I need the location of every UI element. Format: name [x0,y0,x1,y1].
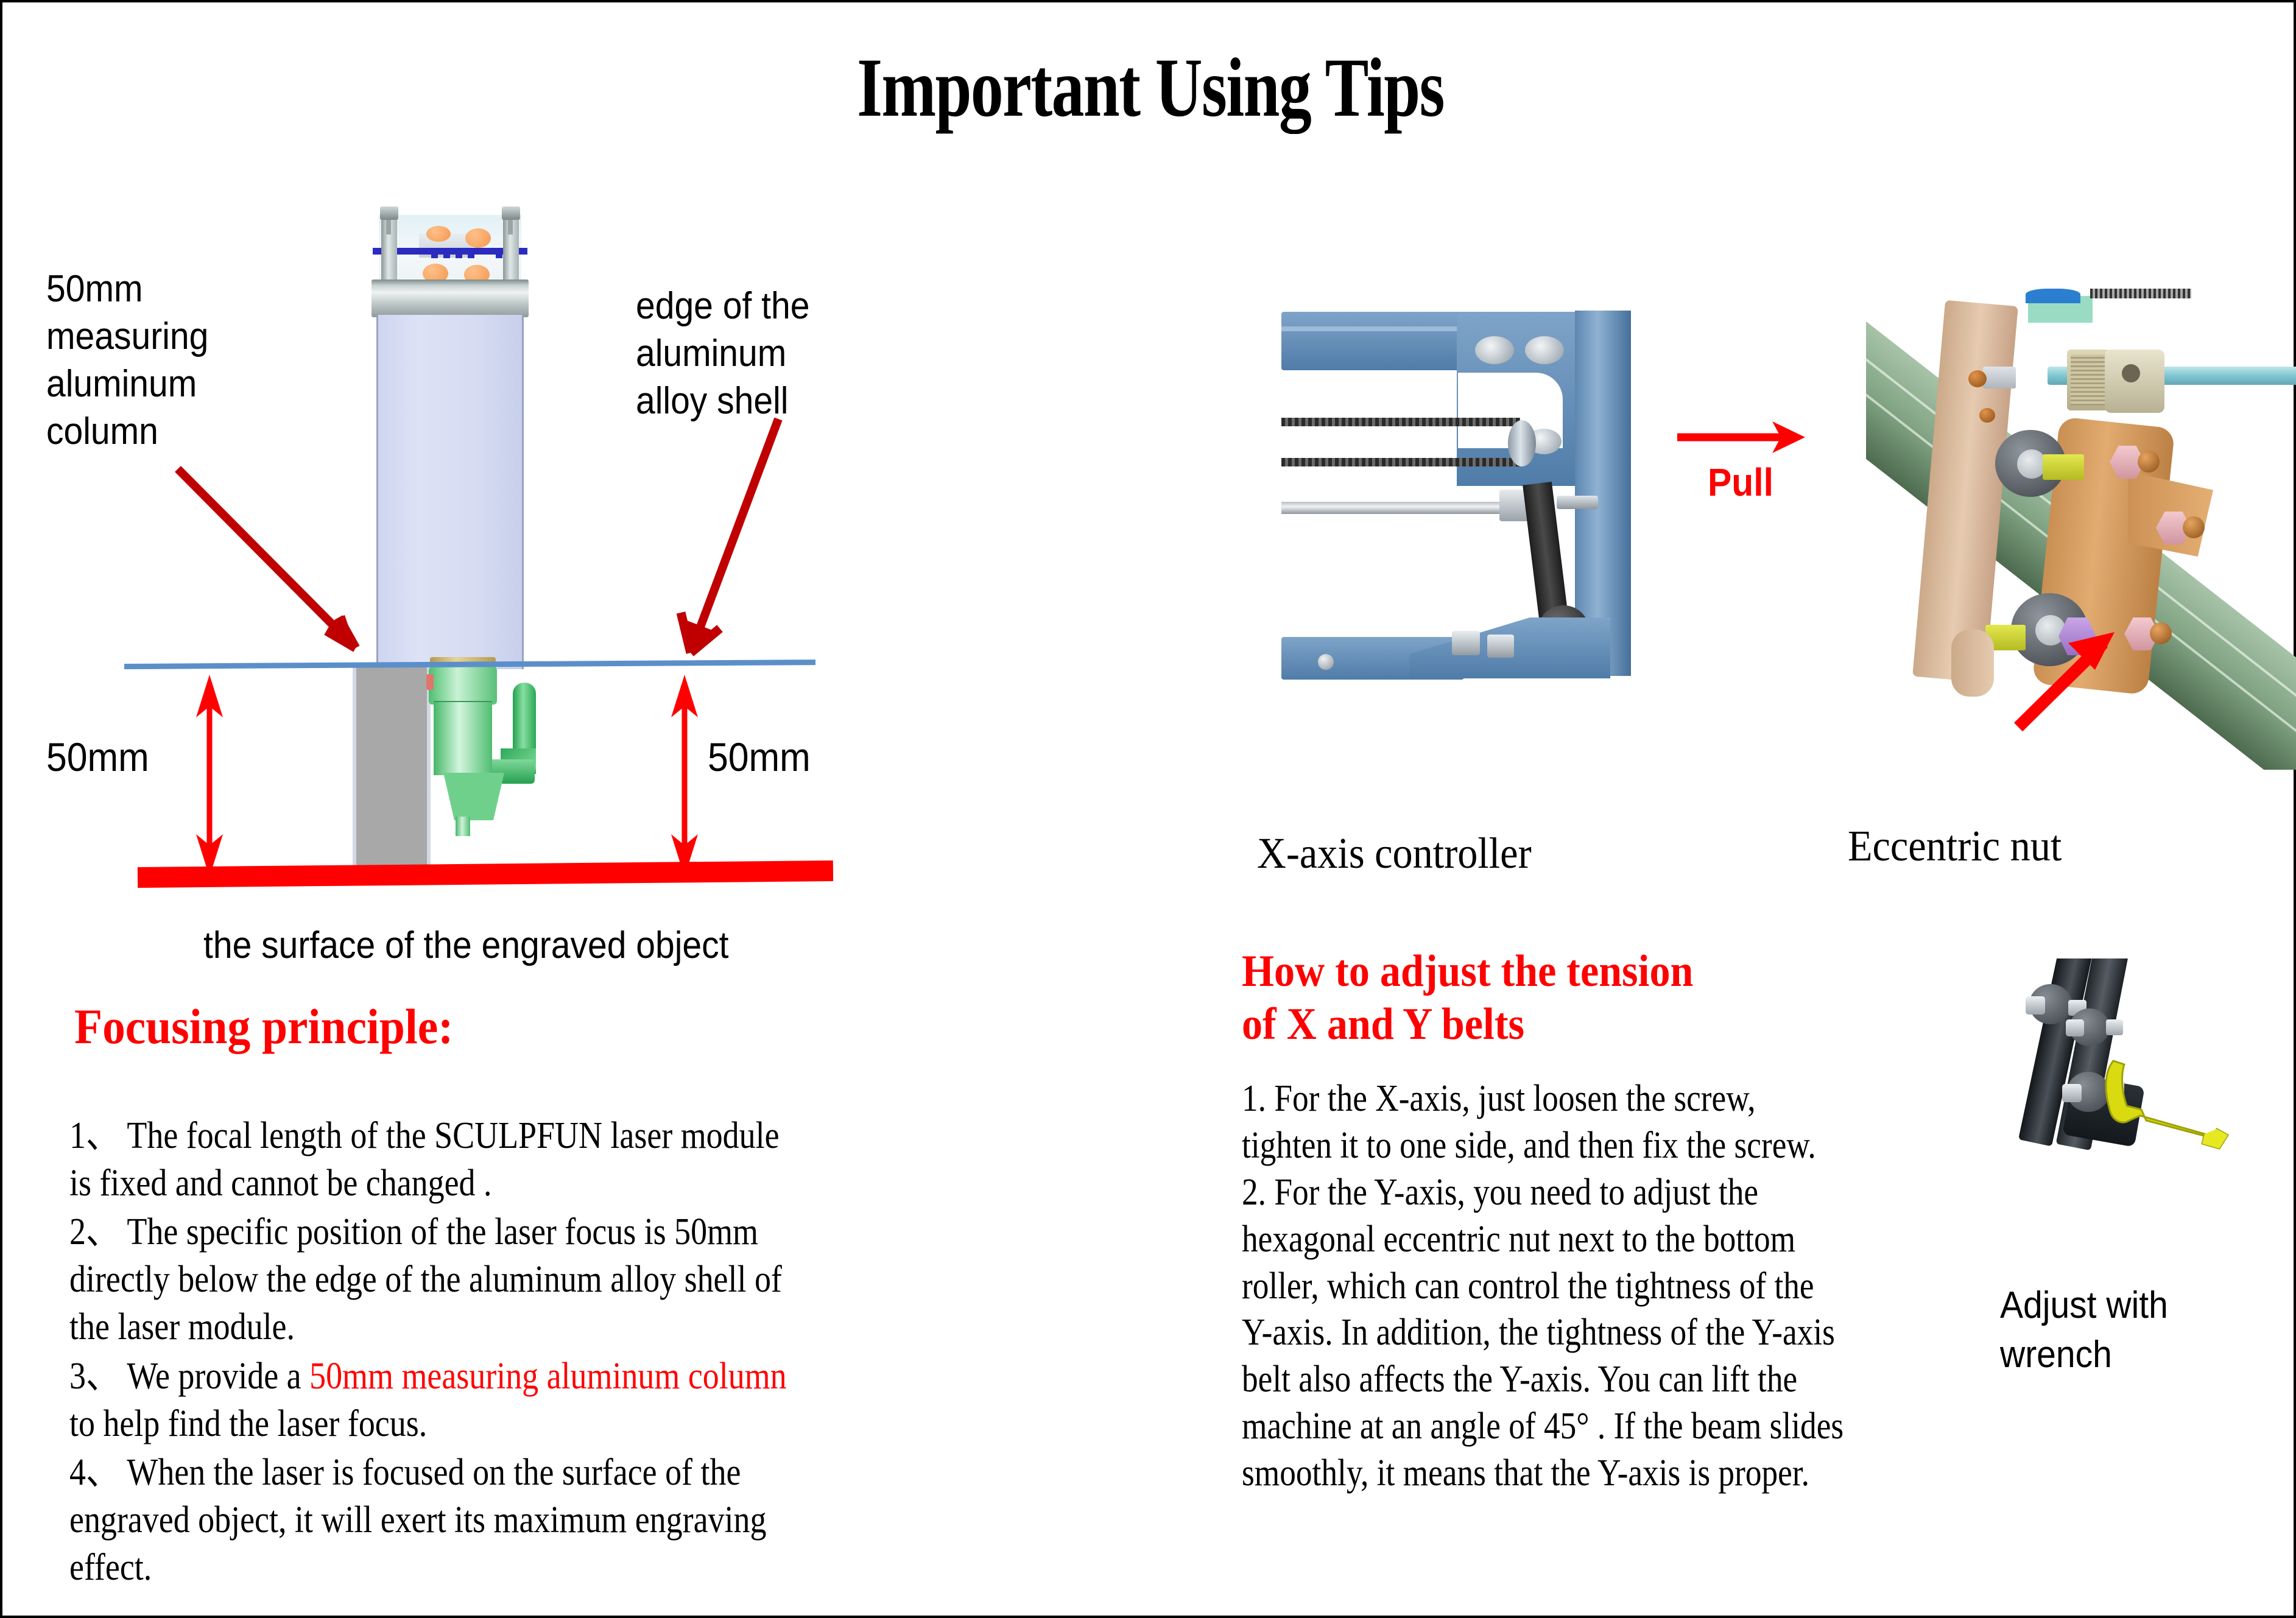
item-highlight: 50mm measuring aluminum column [309,1356,787,1397]
hex-nut [2026,996,2045,1015]
nozzle-cone [443,773,504,820]
item-text: to help find the laser focus. [69,1403,427,1444]
dimension-label-right: 50mm [708,732,811,783]
bracket-bottom [1951,630,1994,697]
pull-label: Pull [1708,458,1773,507]
tension-heading: How to adjust the tension of X and Y bel… [1242,945,1693,1052]
tension-body: 1. For the X-axis, just loosen the screw… [1242,1075,1847,1497]
item-text: When the laser is focused on the surface… [69,1452,766,1588]
x-axis-controller-photo [1281,301,1720,764]
pulley-shaft [1557,496,1598,509]
dimension-label-left: 50mm [46,732,149,783]
bolt-end [2150,622,2172,644]
wrench-icon [2097,1057,2244,1167]
double-headed-vertical-arrow-icon [660,672,709,879]
collar-hole [2122,364,2140,382]
idler-pulley [1508,420,1536,466]
label-shell-edge: edge of the aluminum alloy shell [636,283,809,425]
spacer [2106,1019,2123,1035]
focusing-principle-heading: Focusing principle: [74,995,453,1058]
item-prefix: 1、 [69,1115,119,1156]
indicator-dot [426,674,434,690]
pulley-teeth [2071,354,2106,406]
nozzle-mid [434,702,492,775]
item-prefix: 3、 [69,1356,119,1397]
measuring-aluminum-column [353,666,431,878]
list-item: 1、 The focal length of the SCULPFUN lase… [69,1112,790,1207]
screw-head-right [502,206,520,220]
capacitor [465,228,491,248]
nozzle-top [429,667,497,705]
bolt-end [2138,451,2160,473]
list-item: 4、 When the laser is focused on the surf… [69,1449,790,1591]
page-title: Important Using Tips [255,39,2046,136]
caption-engraved-surface: the surface of the engraved object [203,922,729,969]
item-text: The specific position of the laser focus… [69,1211,782,1348]
spacer [1983,367,2016,389]
hex-nut [2062,1084,2082,1102]
caption-adjust-with-wrench: Adjust with wrench [2000,1281,2168,1379]
yellow-spacer [2043,454,2084,480]
screw-stem-left [386,217,391,234]
hex-nut [2066,1019,2084,1036]
laser-module-illustration [368,206,532,669]
nut [1487,635,1514,658]
item-prefix: 2、 [69,1211,119,1253]
bolt-end [2183,516,2205,538]
bolt-end [1979,408,1995,423]
list-item: 3、 We provide a 50mm measuring aluminum … [69,1352,790,1447]
arrow-down-left-icon [642,410,800,672]
wrench-photo [1976,958,2250,1239]
item-text: The focal length of the SCULPFUN laser m… [69,1115,780,1204]
label-measuring-column: 50mm measuring aluminum column [46,266,208,456]
list-item: 2、 The specific position of the laser fo… [69,1208,790,1351]
belt-lower [1281,458,1520,466]
caption-eccentric-nut: Eccentric nut [1848,818,2062,874]
focusing-principle-body: 1、 The focal length of the SCULPFUN lase… [69,1112,790,1592]
screw-head-left [380,206,398,220]
double-headed-vertical-arrow-icon [185,672,234,879]
laser-nozzle-assembly [423,657,544,864]
linear-rod [1281,502,1508,514]
screw [1525,336,1564,364]
blue-part [2026,289,2080,303]
bolt-end [1968,370,1987,387]
ribbon-cable [2090,289,2191,298]
paragraph: 2. For the Y-axis, you need to adjust th… [1242,1169,1847,1497]
screw-stem-right [508,217,513,234]
screw [1318,654,1334,670]
module-body-glass [376,315,524,669]
item-prefix: 4、 [69,1452,119,1493]
paragraph: 1. For the X-axis, just loosen the screw… [1242,1075,1847,1169]
nozzle-tip [456,817,470,836]
nut [1452,631,1480,655]
item-text: We provide a [119,1356,309,1397]
bearing-inner [2017,449,2046,479]
capacitor [426,226,451,242]
aluminum-alloy-shell-ring [372,280,529,317]
eccentric-nut-photo [1866,289,2296,770]
caption-x-axis-controller: X-axis controller [1257,826,1532,881]
belt-upper [1281,418,1520,426]
slide-page: Important Using Tips [0,0,2296,1618]
screw [1475,336,1514,364]
engraved-object-surface-line [138,860,833,888]
